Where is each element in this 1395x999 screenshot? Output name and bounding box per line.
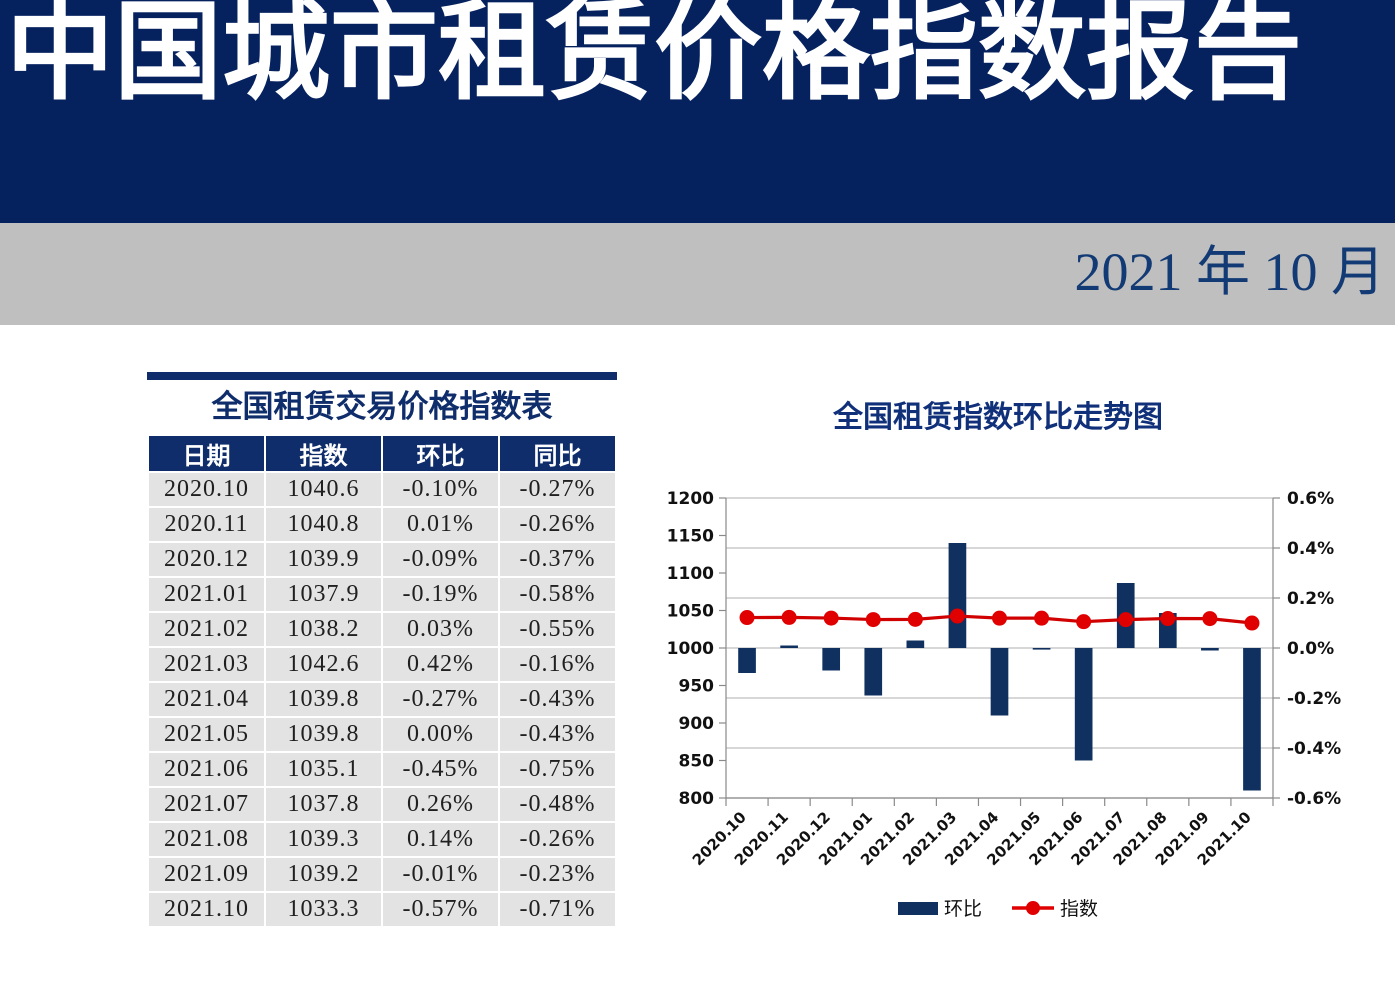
bar [780,646,798,649]
legend-label: 指数 [1060,898,1098,920]
legend-swatch-bar [898,902,938,915]
index-data-point [1076,614,1091,629]
cell-yoy: -0.75% [500,753,615,786]
table-row: 2021.081039.30.14%-0.26% [149,823,615,856]
cell-yoy: -0.27% [500,473,615,506]
right-axis-tick-label: 0.4% [1287,539,1334,559]
cell-date: 2021.06 [149,753,264,786]
table-header-row: 日期 指数 环比 同比 [149,436,615,471]
cell-date: 2021.07 [149,788,264,821]
cell-index: 1035.1 [266,753,381,786]
cell-index: 1039.8 [266,718,381,751]
column-header-yoy: 同比 [500,436,615,471]
right-axis-tick-label: 0.0% [1287,639,1334,659]
bar [1075,648,1093,761]
cell-date: 2021.05 [149,718,264,751]
left-axis-tick-label: 1000 [667,639,714,659]
column-header-mom: 环比 [383,436,498,471]
page-title: 中国城市租赁价格指数报告 [6,0,1395,118]
cell-date: 2021.08 [149,823,264,856]
table-row: 2021.091039.2-0.01%-0.23% [149,858,615,891]
index-data-point [782,610,797,625]
category-labels: 2020.102020.112020.122021.012021.022021.… [689,808,1255,869]
header-banner: 中国城市租赁价格指数报告 [0,0,1395,223]
bar [822,648,840,671]
cell-mom: 0.00% [383,718,498,751]
right-axis: -0.6%-0.4%-0.2%0.0%0.2%0.4%0.6% [1273,489,1341,809]
chart-title: 全国租赁指数环比走势图 [648,392,1348,436]
cell-yoy: -0.58% [500,578,615,611]
table-row: 2021.031042.60.42%-0.16% [149,648,615,681]
cell-date: 2021.10 [149,893,264,926]
cell-yoy: -0.43% [500,718,615,751]
cell-mom: -0.27% [383,683,498,716]
bar [949,543,967,648]
table-row: 2021.101033.3-0.57%-0.71% [149,893,615,926]
cell-date: 2020.10 [149,473,264,506]
table-row: 2021.021038.20.03%-0.55% [149,613,615,646]
right-axis-tick-label: -0.6% [1287,789,1341,809]
left-axis-tick-label: 850 [679,752,715,772]
line-series-zhishu [740,609,1260,631]
left-axis-tick-label: 1200 [667,489,714,509]
cell-mom: 0.42% [383,648,498,681]
table-body: 2020.101040.6-0.10%-0.27%2020.111040.80.… [149,473,615,926]
cell-index: 1039.9 [266,543,381,576]
table-row: 2021.051039.80.00%-0.43% [149,718,615,751]
cell-yoy: -0.23% [500,858,615,891]
trend-chart-panel: 全国租赁指数环比走势图 8008509009501000105011001150… [648,380,1388,940]
index-data-point [908,612,923,627]
index-data-point [1244,616,1259,631]
cell-index: 1042.6 [266,648,381,681]
cell-yoy: -0.71% [500,893,615,926]
cell-mom: 0.14% [383,823,498,856]
table-row: 2021.011037.9-0.19%-0.58% [149,578,615,611]
bar-series-huanbi [738,543,1261,791]
index-data-point [1202,611,1217,626]
index-data-point [824,611,839,626]
cell-date: 2021.03 [149,648,264,681]
right-axis-tick-label: -0.2% [1287,689,1341,709]
cell-date: 2021.04 [149,683,264,716]
cell-mom: -0.19% [383,578,498,611]
left-axis-tick-label: 1050 [667,602,714,622]
table-row: 2020.111040.80.01%-0.26% [149,508,615,541]
table-row: 2021.041039.8-0.27%-0.43% [149,683,615,716]
cell-mom: 0.01% [383,508,498,541]
left-axis-tick-label: 900 [679,714,715,734]
cell-date: 2020.12 [149,543,264,576]
cell-date: 2021.01 [149,578,264,611]
table-head: 日期 指数 环比 同比 [149,436,615,471]
table-row: 2021.071037.80.26%-0.48% [149,788,615,821]
cell-index: 1037.8 [266,788,381,821]
table-top-rule [147,372,617,380]
table-caption: 全国租赁交易价格指数表 [147,380,617,434]
chart-canvas: 80085090095010001050110011501200 -0.6%-0… [648,480,1388,940]
legend-swatch-dot [1026,901,1040,915]
index-data-point [740,610,755,625]
cell-mom: 0.03% [383,613,498,646]
cell-mom: 0.26% [383,788,498,821]
left-axis: 80085090095010001050110011501200 [667,489,726,809]
cell-date: 2021.09 [149,858,264,891]
index-data-point [992,611,1007,626]
chart-legend: 环比指数 [898,898,1098,920]
cell-yoy: -0.26% [500,508,615,541]
cell-date: 2021.02 [149,613,264,646]
cell-index: 1033.3 [266,893,381,926]
table-row: 2020.101040.6-0.10%-0.27% [149,473,615,506]
index-data-point [1160,611,1175,626]
left-axis-tick-label: 1150 [667,527,714,547]
cell-yoy: -0.48% [500,788,615,821]
chart-svg: 80085090095010001050110011501200 -0.6%-0… [648,480,1388,940]
column-header-date: 日期 [149,436,264,471]
cell-index: 1037.9 [266,578,381,611]
bar [907,641,925,649]
cell-index: 1039.2 [266,858,381,891]
cell-index: 1039.3 [266,823,381,856]
cell-yoy: -0.37% [500,543,615,576]
cell-yoy: -0.55% [500,613,615,646]
subheader-band: 2021 年 10 月 [0,223,1395,325]
column-header-index: 指数 [266,436,381,471]
left-axis-tick-label: 800 [679,789,715,809]
bar [738,648,756,673]
index-data-point [950,609,965,624]
cell-mom: -0.01% [383,858,498,891]
cell-index: 1038.2 [266,613,381,646]
cell-mom: -0.57% [383,893,498,926]
cell-yoy: -0.26% [500,823,615,856]
cell-index: 1039.8 [266,683,381,716]
cell-yoy: -0.43% [500,683,615,716]
table-row: 2021.061035.1-0.45%-0.75% [149,753,615,786]
index-data-point [866,612,881,627]
cell-mom: -0.10% [383,473,498,506]
bar [991,648,1009,716]
cell-index: 1040.8 [266,508,381,541]
right-axis-tick-label: 0.2% [1287,589,1334,609]
left-axis-tick-label: 950 [679,677,715,697]
index-table-panel: 全国租赁交易价格指数表 日期 指数 环比 同比 2020.101040.6-0.… [147,372,617,928]
cell-index: 1040.6 [266,473,381,506]
cell-mom: -0.09% [383,543,498,576]
bar [1243,648,1261,791]
index-data-point [1118,612,1133,627]
index-data-point [1034,611,1049,626]
cell-date: 2020.11 [149,508,264,541]
legend-label: 环比 [944,898,982,920]
bar [864,648,882,696]
right-axis-tick-label: 0.6% [1287,489,1334,509]
bar [1201,648,1219,651]
report-date: 2021 年 10 月 [1075,241,1386,303]
table-row: 2020.121039.9-0.09%-0.37% [149,543,615,576]
right-axis-tick-label: -0.4% [1287,739,1341,759]
cell-mom: -0.45% [383,753,498,786]
left-axis-tick-label: 1100 [667,564,714,584]
bar [1033,648,1051,650]
cell-yoy: -0.16% [500,648,615,681]
index-table: 日期 指数 环比 同比 2020.101040.6-0.10%-0.27%202… [147,434,617,928]
